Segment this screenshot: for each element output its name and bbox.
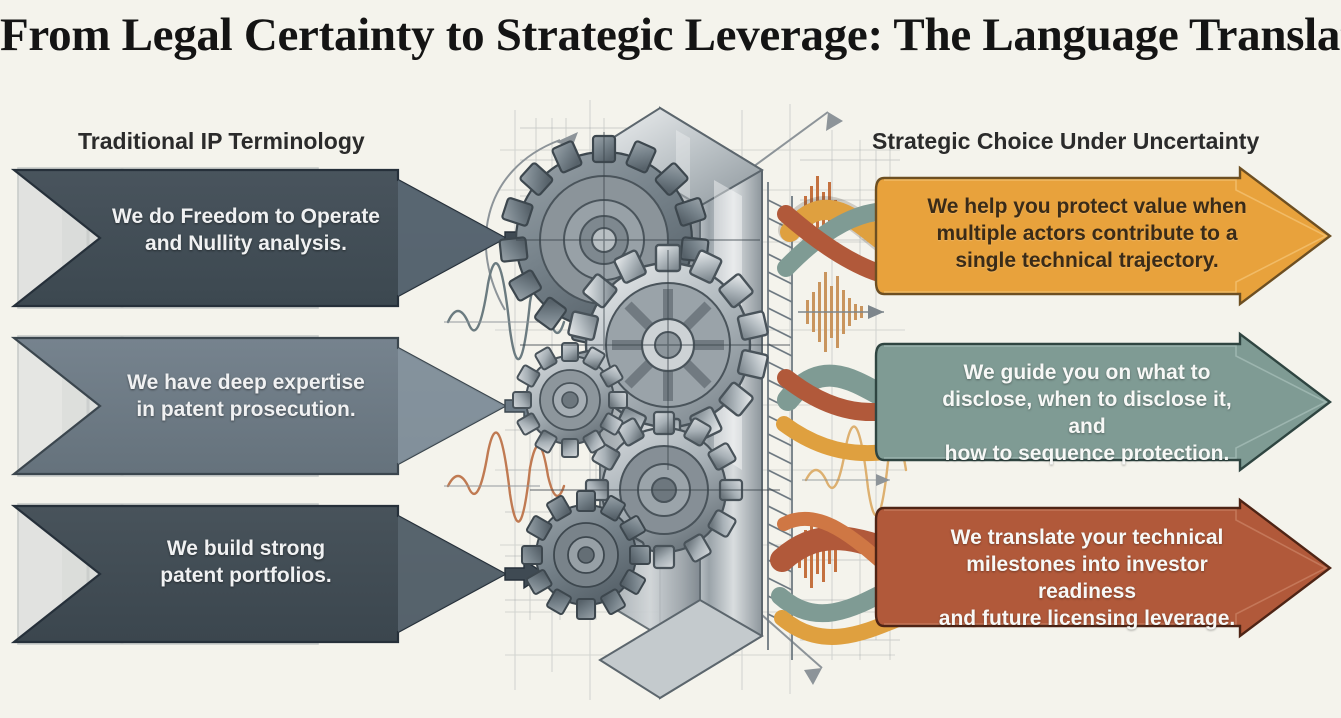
infographic-artwork xyxy=(0,0,1341,718)
infographic-canvas: From Legal Certainty to Strategic Levera… xyxy=(0,0,1341,718)
page-title: From Legal Certainty to Strategic Levera… xyxy=(0,8,1341,62)
right-arrow-protect-value xyxy=(876,168,1330,304)
column-heading-left: Traditional IP Terminology xyxy=(78,128,365,155)
right-arrow-investor-readiness xyxy=(876,500,1330,636)
column-heading-right: Strategic Choice Under Uncertainty xyxy=(872,128,1259,155)
right-arrow-disclosure-sequencing xyxy=(876,334,1330,470)
